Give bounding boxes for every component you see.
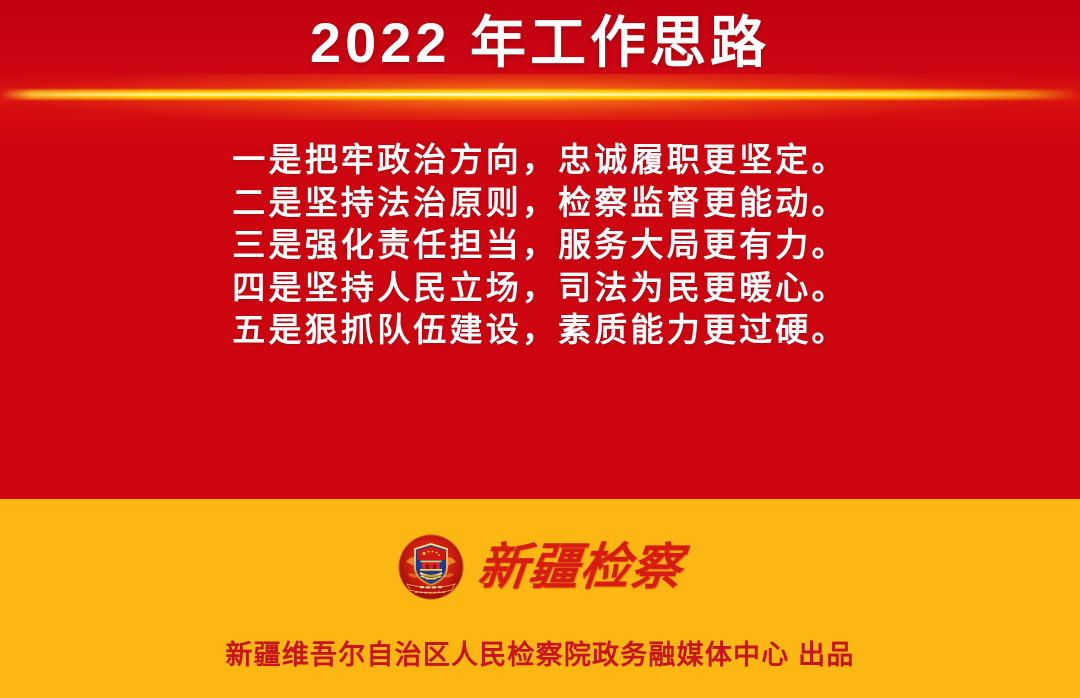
poster-canvas: 2022 年工作思路 一是把牢政治方向，忠诚履职更坚定。 二是坚持法治原则，检察… [0,0,1080,698]
brand-row: 新疆检察 [0,534,1080,600]
body-line-3: 三是强化责任担当，服务大局更有力。 [0,224,1080,267]
divider-glow [0,74,1080,120]
body-line-5: 五是狠抓队伍建设，素质能力更过硬。 [0,309,1080,352]
body-line-4: 四是坚持人民立场，司法为民更暖心。 [0,267,1080,310]
footer-credit-text: 新疆维吾尔自治区人民检察院政务融媒体中心 出品 [0,633,1080,672]
gold-footer-panel: 新疆检察 新疆维吾尔自治区人民检察院政务融媒体中心 出品 [0,499,1080,698]
brand-script-text: 新疆检察 [475,538,685,596]
procuratorate-emblem-icon [398,534,464,600]
body-text-block: 一是把牢政治方向，忠诚履职更坚定。 二是坚持法治原则，检察监督更能动。 三是强化… [0,139,1080,352]
body-line-2: 二是坚持法治原则，检察监督更能动。 [0,182,1080,225]
body-line-1: 一是把牢政治方向，忠诚履职更坚定。 [0,139,1080,182]
page-title: 2022 年工作思路 [0,8,1080,78]
red-background-panel: 2022 年工作思路 一是把牢政治方向，忠诚履职更坚定。 二是坚持法治原则，检察… [0,0,1080,499]
gold-beam-divider [0,88,1080,101]
brand-script-logo: 新疆检察 [478,534,682,600]
